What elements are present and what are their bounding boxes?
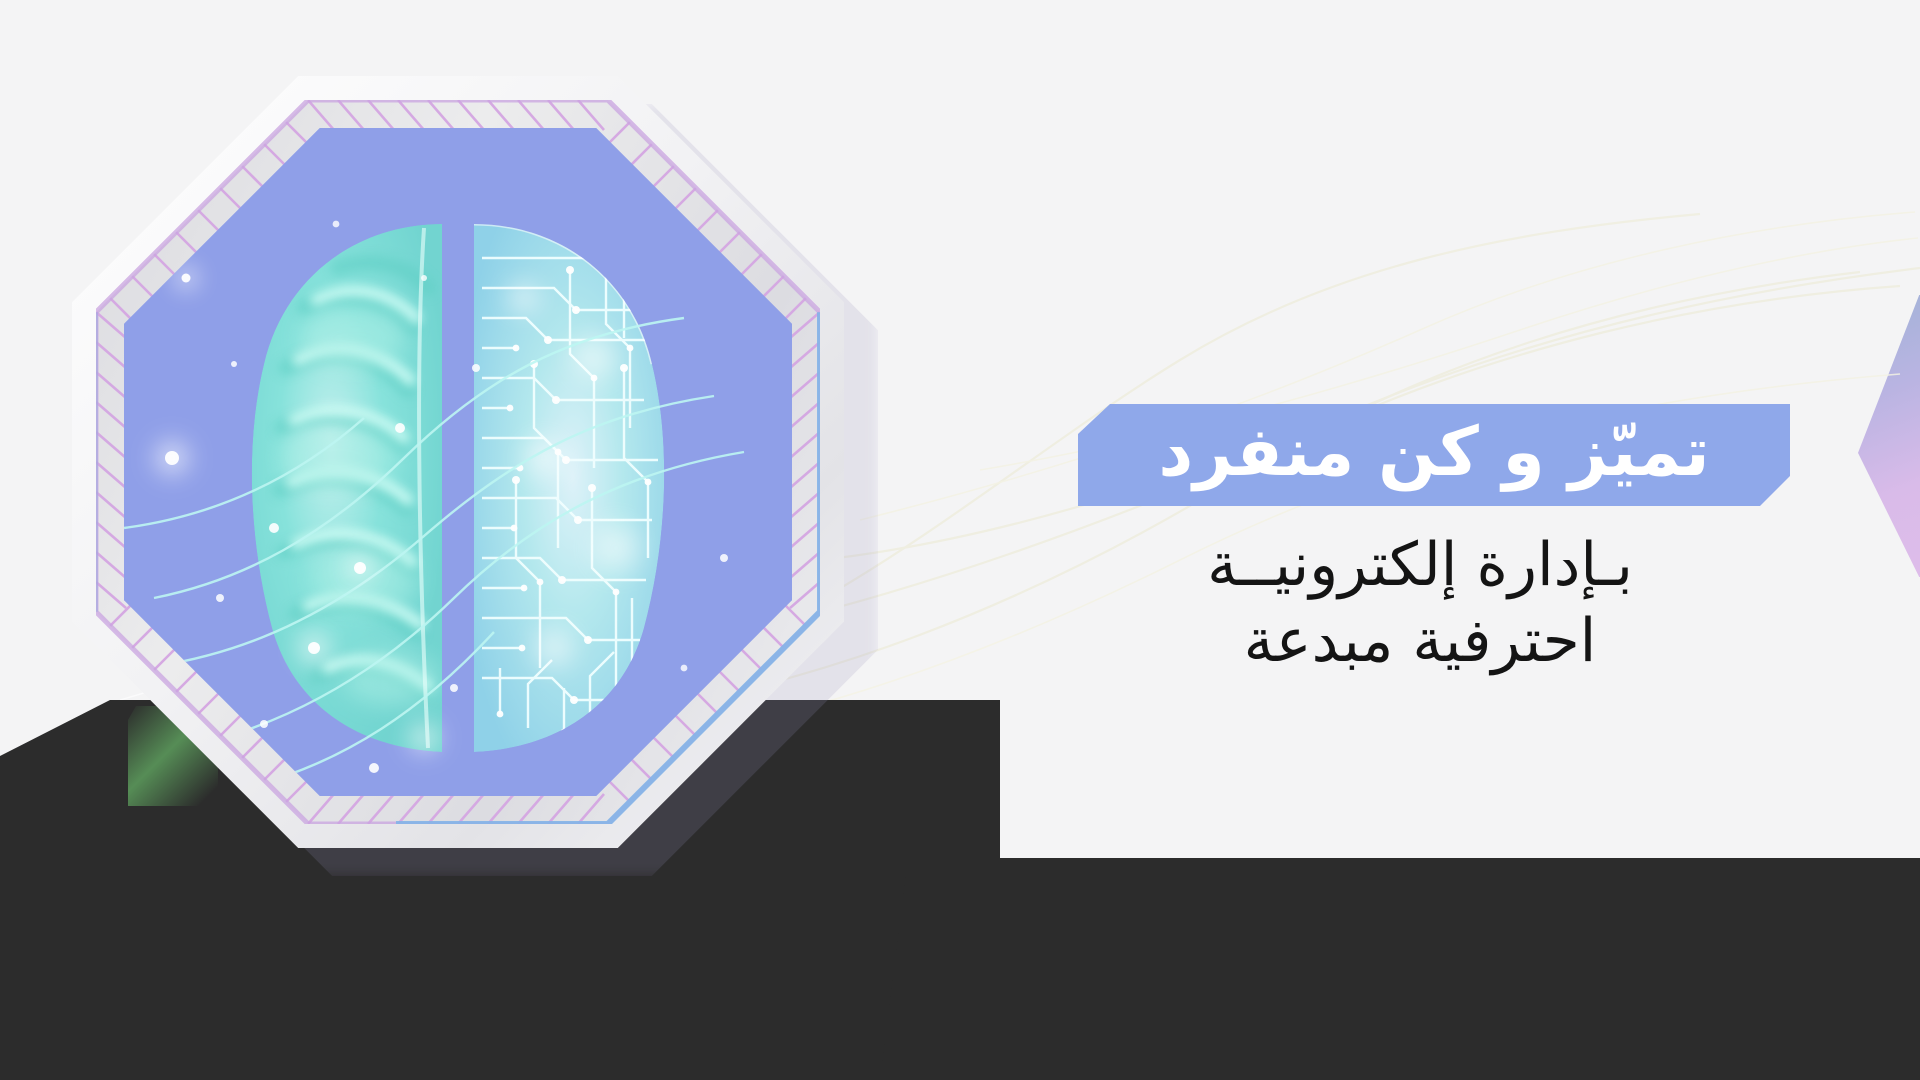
headline-banner: تميّز و كن منفرد bbox=[1078, 404, 1790, 506]
subheading-line-1: بـإدارة إلكترونيــة bbox=[1040, 528, 1800, 604]
dark-pedestal-right bbox=[880, 858, 1920, 1080]
banner-canvas: تميّز و كن منفرد بـإدارة إلكترونيــة احت… bbox=[0, 0, 1920, 1080]
right-partial-polygon bbox=[1840, 295, 1920, 577]
headline-text: تميّز و كن منفرد bbox=[1158, 419, 1709, 491]
subheading-block: بـإدارة إلكترونيــة احترفية مبدعة bbox=[1040, 528, 1800, 679]
octagon-badge bbox=[72, 76, 844, 848]
subheading-line-2: احترفية مبدعة bbox=[1040, 604, 1800, 680]
octagon-frame bbox=[72, 76, 844, 848]
octagon-interior bbox=[124, 128, 792, 796]
ai-brain-illustration bbox=[124, 128, 792, 796]
